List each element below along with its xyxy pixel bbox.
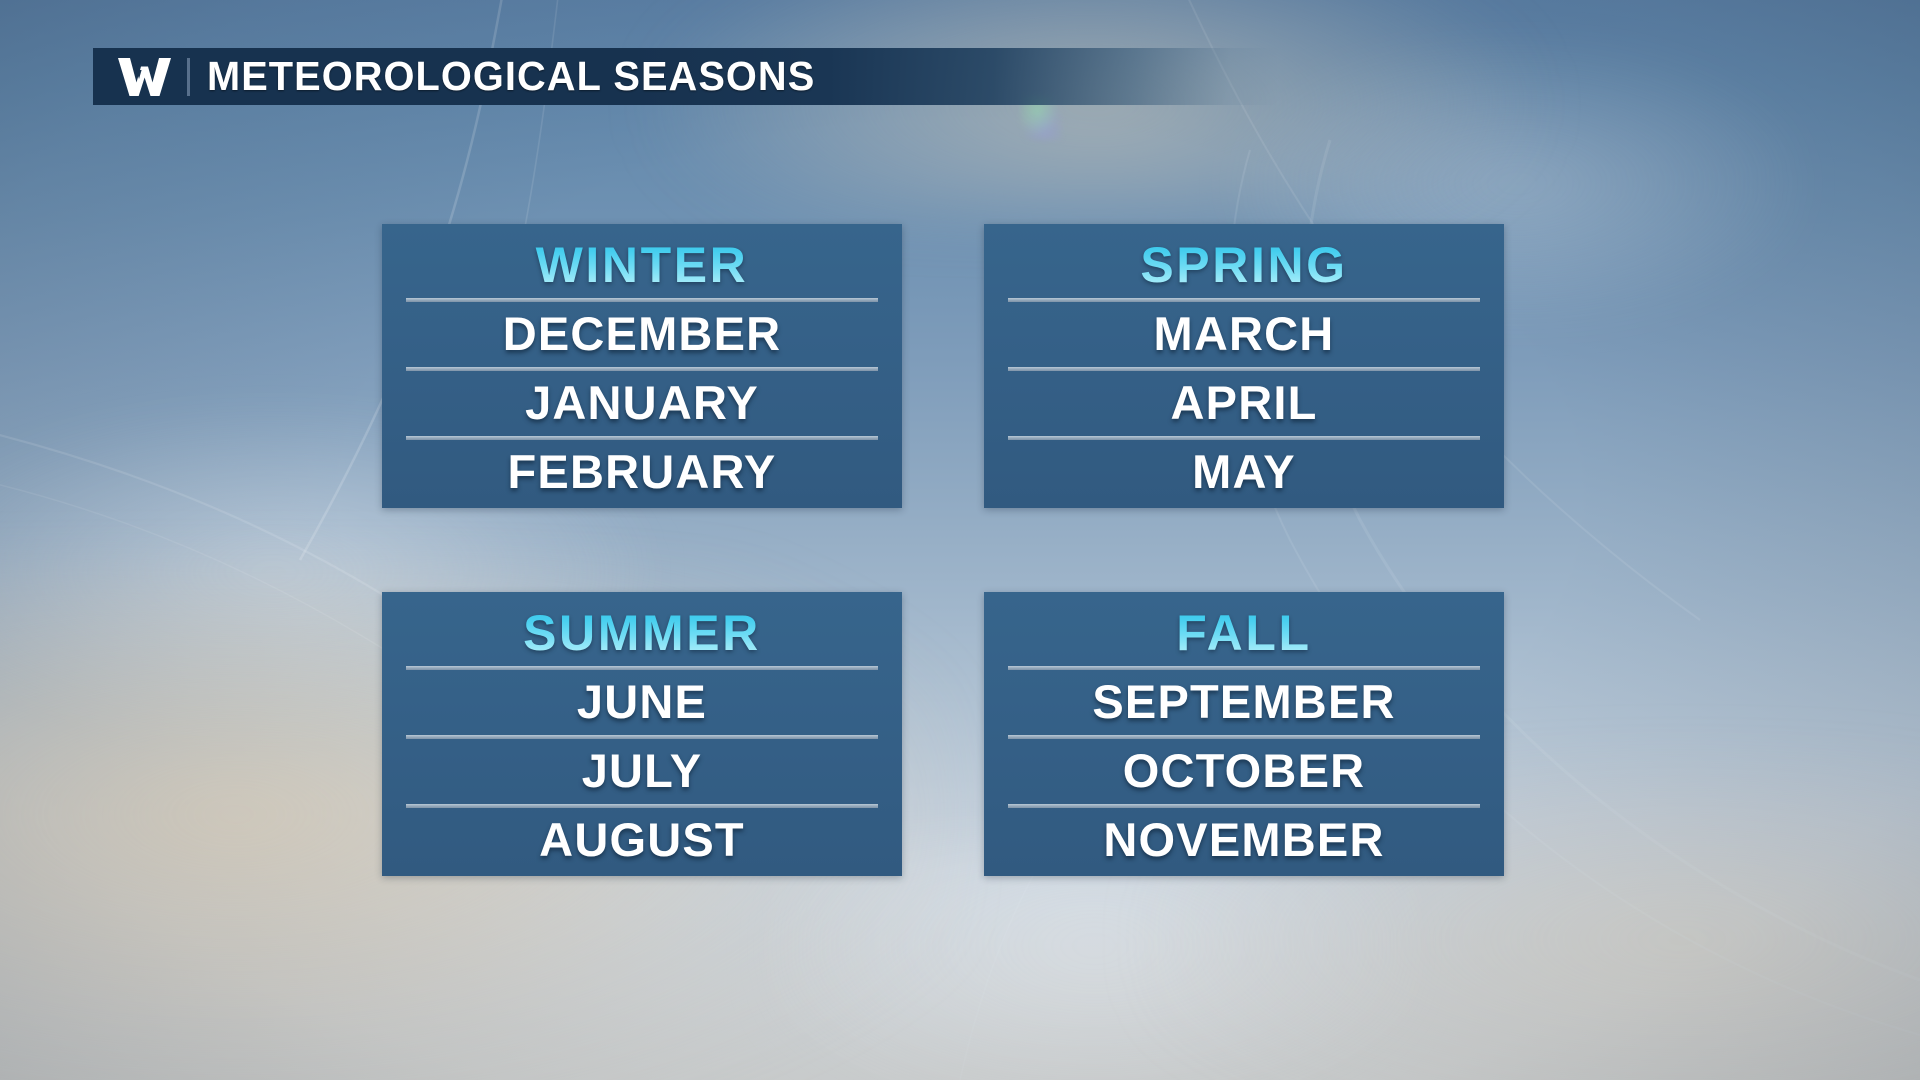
weathernation-w-logo-icon <box>117 56 173 98</box>
month-label: JANUARY <box>406 373 878 436</box>
divider <box>406 298 878 302</box>
divider <box>1008 367 1480 371</box>
graphic-canvas: METEOROLOGICAL SEASONS WINTER DECEMBER J… <box>0 0 1920 1080</box>
month-label: AUGUST <box>406 810 878 873</box>
divider <box>406 735 878 739</box>
month-label: NOVEMBER <box>1008 810 1480 873</box>
month-label: FEBRUARY <box>406 442 878 505</box>
divider <box>406 436 878 440</box>
divider <box>406 367 878 371</box>
divider <box>1008 804 1480 808</box>
season-panel-fall: FALL SEPTEMBER OCTOBER NOVEMBER <box>984 592 1504 876</box>
divider <box>1008 666 1480 670</box>
month-label: SEPTEMBER <box>1008 672 1480 735</box>
seasons-grid: WINTER DECEMBER JANUARY FEBRUARY SPRING … <box>382 224 1514 876</box>
season-panel-winter: WINTER DECEMBER JANUARY FEBRUARY <box>382 224 902 508</box>
page-title: METEOROLOGICAL SEASONS <box>207 53 815 100</box>
season-panel-spring: SPRING MARCH APRIL MAY <box>984 224 1504 508</box>
month-label: APRIL <box>1008 373 1480 436</box>
divider <box>406 666 878 670</box>
divider <box>1008 735 1480 739</box>
month-label: JULY <box>406 741 878 804</box>
season-title-winter: WINTER <box>406 234 878 298</box>
season-panel-summer: SUMMER JUNE JULY AUGUST <box>382 592 902 876</box>
divider <box>1008 436 1480 440</box>
month-label: JUNE <box>406 672 878 735</box>
logo-divider <box>187 58 190 96</box>
season-title-fall: FALL <box>1008 602 1480 666</box>
month-label: MARCH <box>1008 304 1480 367</box>
divider <box>1008 298 1480 302</box>
month-label: OCTOBER <box>1008 741 1480 804</box>
divider <box>406 804 878 808</box>
season-title-summer: SUMMER <box>406 602 878 666</box>
title-bar: METEOROLOGICAL SEASONS <box>93 48 1278 105</box>
season-title-spring: SPRING <box>1008 234 1480 298</box>
month-label: MAY <box>1008 442 1480 505</box>
month-label: DECEMBER <box>406 304 878 367</box>
